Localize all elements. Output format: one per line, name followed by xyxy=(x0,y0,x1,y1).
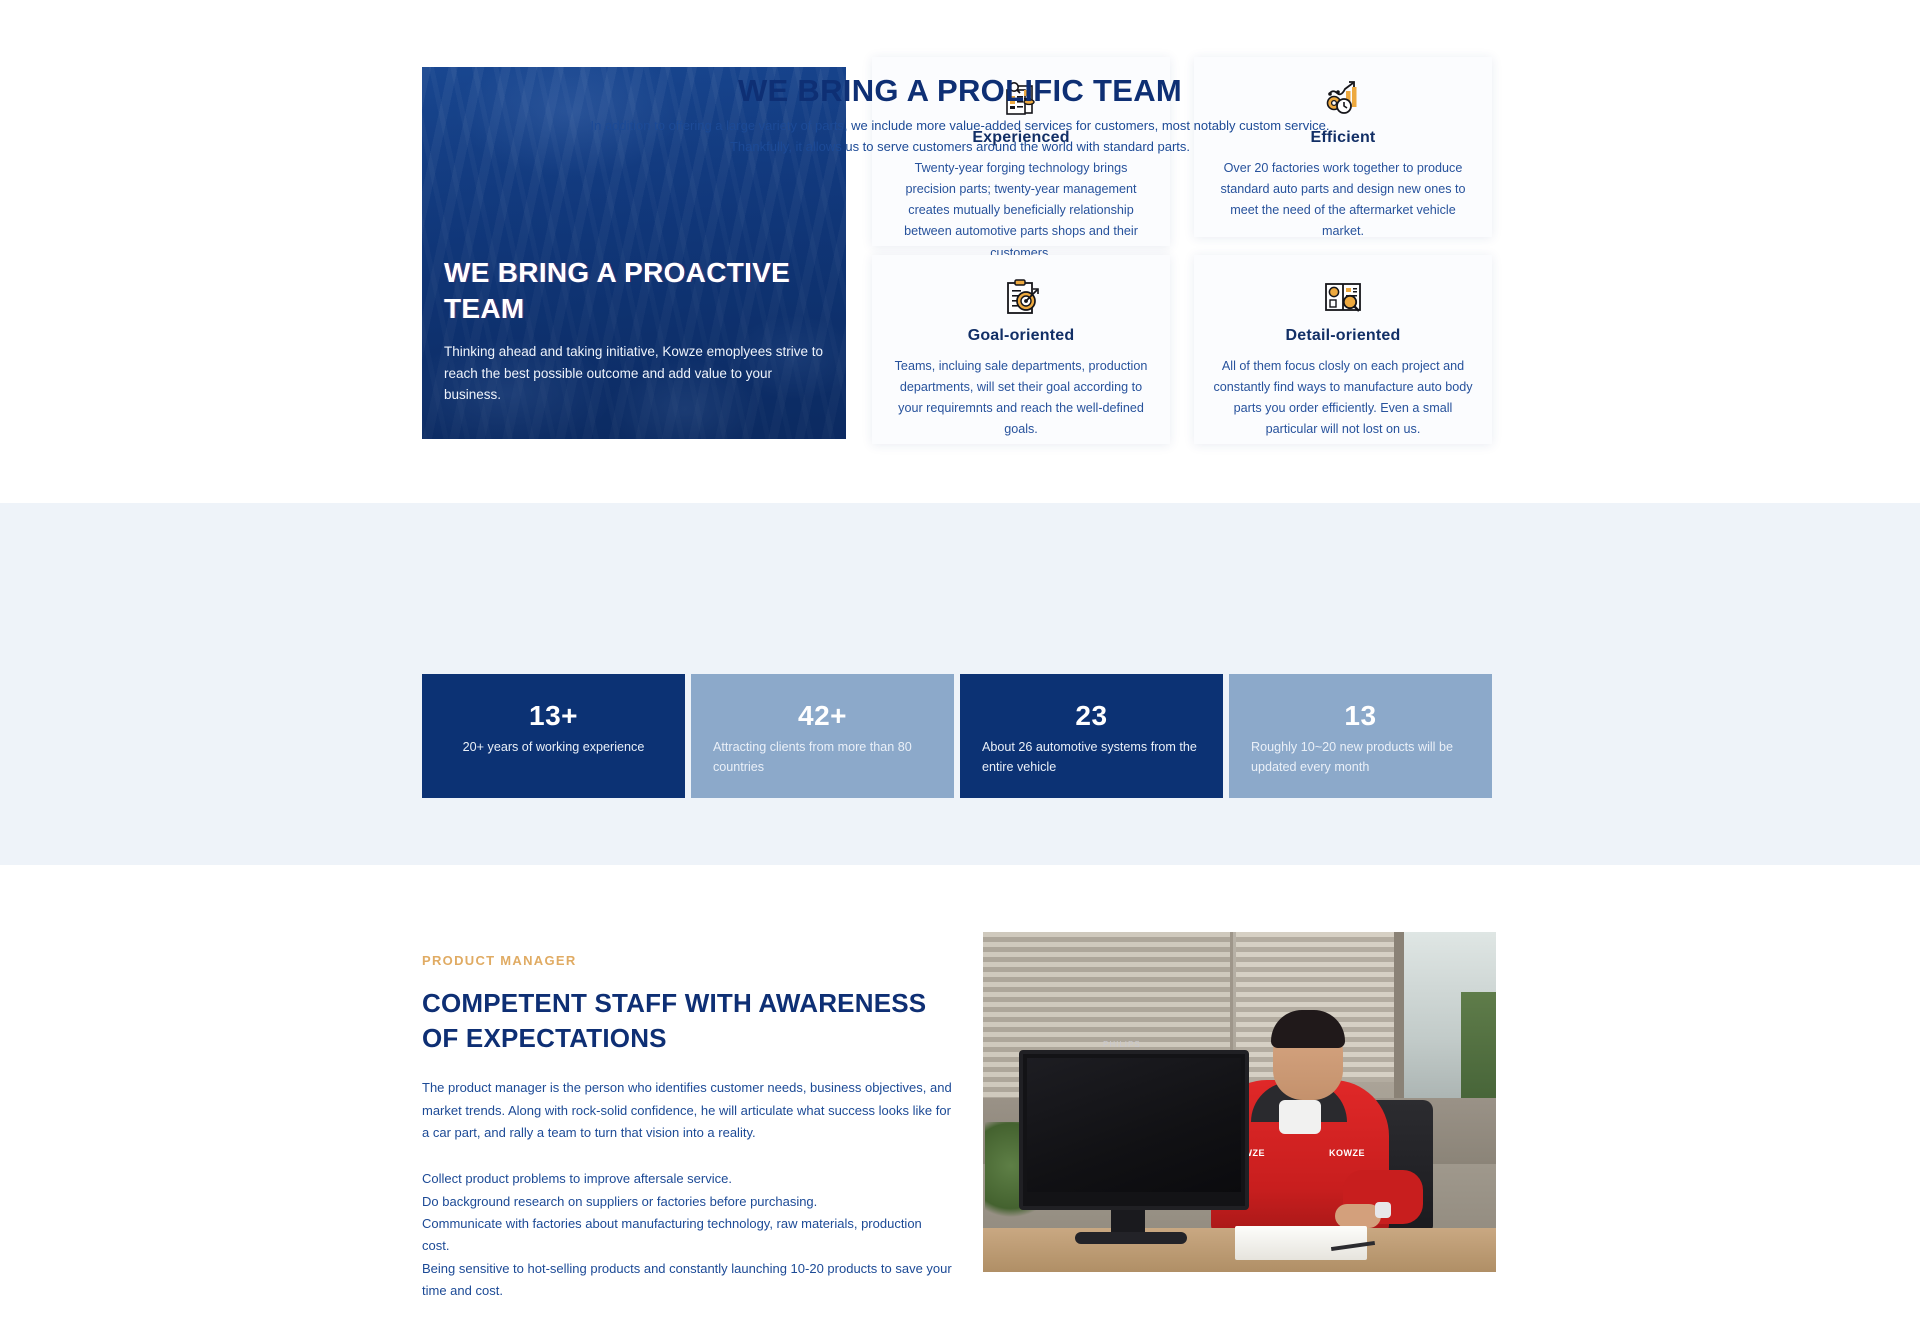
clipboard-target-icon xyxy=(890,271,1152,323)
product-manager-copy: PRODUCT MANAGER COMPETENT STAFF WITH AWA… xyxy=(422,953,952,1302)
hero-subtitle: Thinking ahead and taking initiative, Ko… xyxy=(444,341,824,407)
stat-label: 20+ years of working experience xyxy=(444,738,663,758)
feature-card-text: All of them focus closly on each project… xyxy=(1212,356,1474,441)
stat-tile: 42+ Attracting clients from more than 80… xyxy=(691,674,954,798)
duty-item: Collect product problems to improve afte… xyxy=(422,1168,952,1190)
photo-inner-shirt xyxy=(1279,1100,1321,1134)
stat-number: 23 xyxy=(982,702,1201,730)
stats-row: 13+ 20+ years of working experience 42+ … xyxy=(422,674,1498,798)
photo-monitor-brand-label: PHILIPS xyxy=(1103,1040,1163,1050)
product-manager-paragraph: The product manager is the person who id… xyxy=(422,1077,952,1144)
feature-card-goal-oriented[interactable]: Goal-oriented Teams, incluing sale depar… xyxy=(872,255,1170,444)
photo-wristwatch xyxy=(1375,1202,1391,1218)
feature-card-text: Twenty-year forging technology brings pr… xyxy=(890,158,1152,264)
hero-title: WE BRING A PROACTIVE TEAM xyxy=(444,255,824,327)
stat-number: 13 xyxy=(1251,702,1470,730)
photo-notebook xyxy=(1235,1226,1367,1260)
photo-jacket-logo-right: KOWZE xyxy=(1329,1148,1365,1158)
book-magnifier-icon xyxy=(1212,271,1474,323)
product-manager-section xyxy=(0,865,1920,1340)
stat-tile: 13 Roughly 10~20 new products will be up… xyxy=(1229,674,1492,798)
stat-label: Roughly 10~20 new products will be updat… xyxy=(1251,738,1470,777)
photo-monitor-base xyxy=(1075,1232,1187,1244)
stat-tile: 13+ 20+ years of working experience xyxy=(422,674,685,798)
stat-label: Attracting clients from more than 80 cou… xyxy=(713,738,932,777)
feature-card-title: Goal-oriented xyxy=(890,327,1152,345)
duty-item: Being sensitive to hot-selling products … xyxy=(422,1258,952,1303)
feature-card-title: Detail-oriented xyxy=(1212,327,1474,345)
prolific-subtitle: In addition to offering a large variety … xyxy=(560,116,1360,158)
product-manager-eyebrow: PRODUCT MANAGER xyxy=(422,953,952,968)
feature-card-text: Teams, incluing sale departments, produc… xyxy=(890,356,1152,441)
duty-item: Communicate with factories about manufac… xyxy=(422,1213,952,1258)
stat-label: About 26 automotive systems from the ent… xyxy=(982,738,1201,777)
product-manager-title: COMPETENT STAFF WITH AWARENESS OF EXPECT… xyxy=(422,986,952,1055)
prolific-title: WE BRING A PROLIFIC TEAM xyxy=(0,73,1920,109)
page-root: Home > Team Stories WE BRING A PROACTIVE… xyxy=(0,0,1920,1340)
feature-card-detail-oriented[interactable]: Detail-oriented All of them focus closly… xyxy=(1194,255,1492,444)
product-manager-photo: KOWZE KOWZE PHILIPS xyxy=(983,932,1496,1272)
hero-content: WE BRING A PROACTIVE TEAM Thinking ahead… xyxy=(444,255,824,406)
product-manager-duties: Collect product problems to improve afte… xyxy=(422,1168,952,1302)
photo-window-frame xyxy=(1394,932,1404,1100)
stat-tile: 23 About 26 automotive systems from the … xyxy=(960,674,1223,798)
duty-item: Do background research on suppliers or f… xyxy=(422,1191,952,1213)
stat-number: 42+ xyxy=(713,702,932,730)
stat-number: 13+ xyxy=(444,702,663,730)
photo-monitor-screen xyxy=(1027,1058,1241,1192)
feature-card-text: Over 20 factories work together to produ… xyxy=(1212,158,1474,243)
